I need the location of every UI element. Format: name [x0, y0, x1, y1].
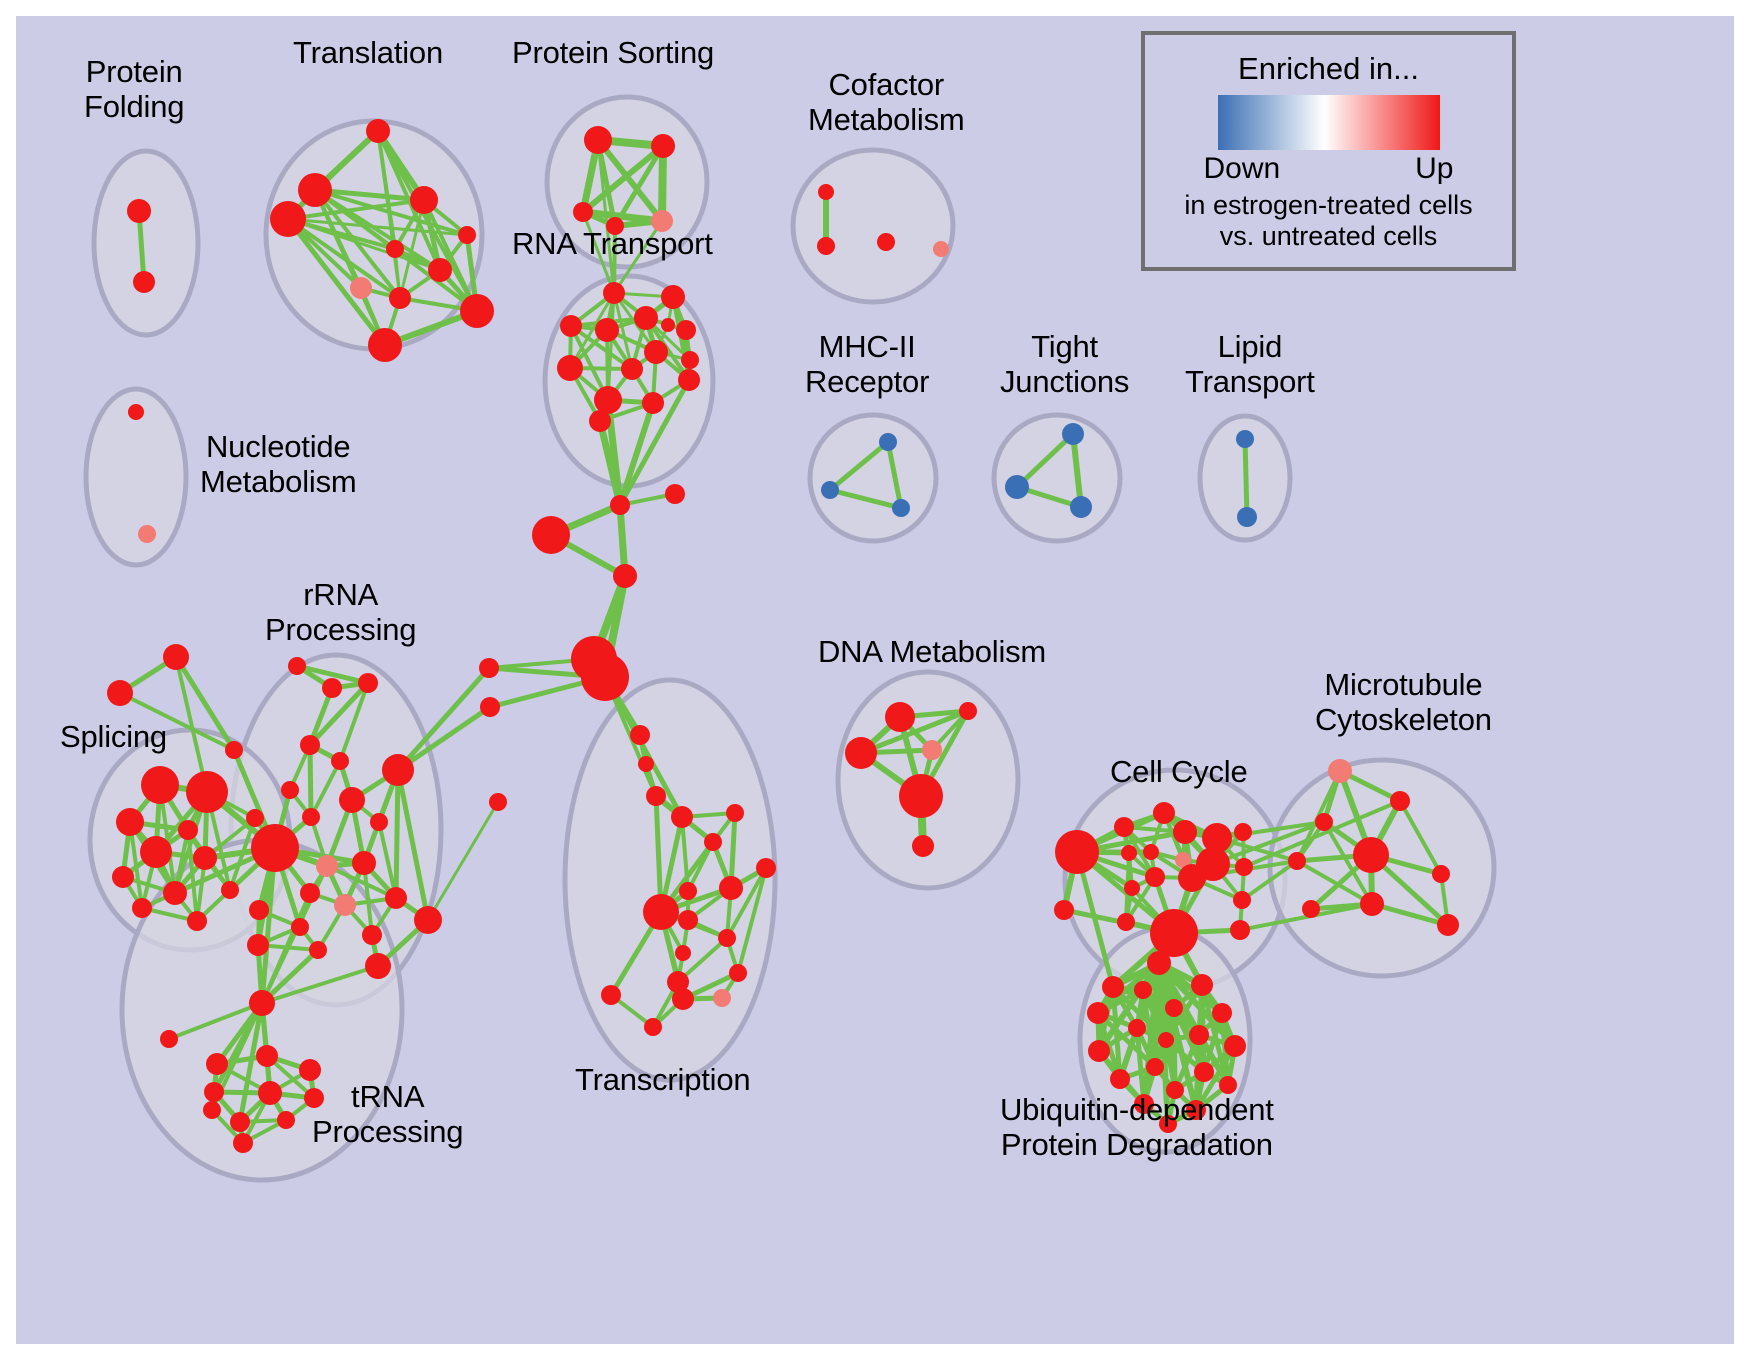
- cluster-label-mhc-ii-receptor: MHC-II Receptor: [805, 330, 929, 399]
- network-node[interactable]: [601, 985, 621, 1005]
- network-edge: [1245, 439, 1247, 517]
- network-node[interactable]: [133, 271, 155, 293]
- cluster-label-trna-processing: tRNA Processing: [312, 1080, 463, 1149]
- network-node[interactable]: [1236, 430, 1254, 448]
- network-node[interactable]: [1117, 913, 1135, 931]
- network-node[interactable]: [309, 941, 327, 959]
- network-node[interactable]: [584, 126, 612, 154]
- network-node[interactable]: [756, 858, 776, 878]
- network-node[interactable]: [821, 481, 839, 499]
- network-node[interactable]: [256, 1045, 278, 1067]
- network-node[interactable]: [138, 525, 156, 543]
- network-node[interactable]: [300, 735, 320, 755]
- network-node[interactable]: [1062, 423, 1084, 445]
- network-node[interactable]: [358, 673, 378, 693]
- network-node[interactable]: [678, 369, 700, 391]
- legend-sublabel: in estrogen-treated cells vs. untreated …: [1184, 190, 1472, 253]
- network-node[interactable]: [225, 741, 243, 759]
- network-node[interactable]: [726, 804, 744, 822]
- network-node[interactable]: [679, 882, 697, 900]
- legend-colorbar: [1218, 95, 1440, 150]
- network-node[interactable]: [281, 781, 299, 799]
- cluster-label-tight-junctions: Tight Junctions: [1000, 330, 1129, 399]
- network-node[interactable]: [912, 835, 934, 857]
- network-node[interactable]: [661, 285, 685, 309]
- network-node[interactable]: [719, 876, 743, 900]
- network-node[interactable]: [1390, 791, 1410, 811]
- network-node[interactable]: [1165, 999, 1183, 1017]
- network-node[interactable]: [885, 702, 915, 732]
- network-node[interactable]: [1153, 802, 1175, 824]
- network-node[interactable]: [1158, 1032, 1174, 1048]
- network-node[interactable]: [643, 894, 679, 930]
- network-node[interactable]: [480, 697, 500, 717]
- cluster-hull-protein-folding: [94, 151, 198, 335]
- cluster-label-cell-cycle: Cell Cycle: [1110, 755, 1248, 790]
- cluster-label-lipid-transport: Lipid Transport: [1185, 330, 1315, 399]
- network-node[interactable]: [116, 808, 144, 836]
- network-node[interactable]: [718, 929, 736, 947]
- network-node[interactable]: [675, 945, 691, 961]
- network-node[interactable]: [1147, 951, 1171, 975]
- network-node[interactable]: [1360, 892, 1384, 916]
- network-node[interactable]: [1070, 496, 1092, 518]
- network-node[interactable]: [160, 1030, 178, 1048]
- network-node[interactable]: [634, 306, 658, 330]
- network-node[interactable]: [339, 787, 365, 813]
- network-node[interactable]: [1224, 1035, 1246, 1057]
- network-node[interactable]: [1328, 759, 1352, 783]
- network-node[interactable]: [187, 911, 207, 931]
- network-node[interactable]: [127, 199, 151, 223]
- network-node[interactable]: [879, 433, 897, 451]
- cluster-label-nucleotide-metabolism: Nucleotide Metabolism: [200, 430, 357, 499]
- network-node[interactable]: [532, 516, 570, 554]
- cluster-label-cofactor-metabolism: Cofactor Metabolism: [808, 68, 965, 137]
- network-node[interactable]: [350, 277, 372, 299]
- network-node[interactable]: [140, 836, 172, 868]
- network-node[interactable]: [1173, 820, 1197, 844]
- network-node[interactable]: [1437, 914, 1459, 936]
- network-node[interactable]: [246, 809, 264, 827]
- network-edge: [310, 745, 311, 817]
- network-node[interactable]: [933, 241, 949, 257]
- network-node[interactable]: [621, 358, 643, 380]
- legend-title: Enriched in...: [1238, 51, 1419, 87]
- network-node[interactable]: [132, 898, 152, 918]
- network-node[interactable]: [1212, 1003, 1232, 1023]
- network-node[interactable]: [1432, 865, 1450, 883]
- enrichment-map-figure: Protein FoldingTranslationProtein Sortin…: [0, 0, 1750, 1360]
- network-node[interactable]: [603, 282, 625, 304]
- network-node[interactable]: [959, 702, 977, 720]
- network-node[interactable]: [681, 351, 699, 369]
- network-node[interactable]: [1124, 880, 1140, 896]
- network-node[interactable]: [291, 918, 309, 936]
- network-node[interactable]: [644, 1018, 662, 1036]
- network-node[interactable]: [107, 680, 133, 706]
- network-node[interactable]: [1143, 844, 1159, 860]
- network-node[interactable]: [581, 653, 629, 701]
- network-node[interactable]: [557, 355, 583, 381]
- network-node[interactable]: [479, 658, 499, 678]
- network-node[interactable]: [877, 233, 895, 251]
- network-node[interactable]: [665, 484, 685, 504]
- legend-endpoints: Down Up: [1204, 152, 1454, 186]
- network-node[interactable]: [163, 881, 187, 905]
- network-node[interactable]: [1102, 976, 1124, 998]
- cluster-label-dna-metabolism: DNA Metabolism: [818, 635, 1046, 670]
- network-node[interactable]: [489, 793, 507, 811]
- network-node[interactable]: [676, 320, 696, 340]
- network-node[interactable]: [1088, 1040, 1110, 1062]
- network-node[interactable]: [573, 202, 593, 222]
- network-node[interactable]: [1194, 1062, 1214, 1082]
- network-node[interactable]: [230, 1112, 250, 1132]
- network-node[interactable]: [302, 808, 320, 826]
- network-node[interactable]: [300, 883, 320, 903]
- cluster-label-protein-sorting: Protein Sorting: [512, 36, 714, 71]
- network-node[interactable]: [1146, 1058, 1164, 1076]
- network-node[interactable]: [1302, 900, 1320, 918]
- network-node[interactable]: [251, 824, 299, 872]
- network-node[interactable]: [892, 499, 910, 517]
- network-node[interactable]: [1234, 823, 1252, 841]
- network-node[interactable]: [1054, 900, 1074, 920]
- network-node[interactable]: [258, 1081, 282, 1105]
- network-node[interactable]: [385, 887, 407, 909]
- network-node[interactable]: [365, 953, 391, 979]
- network-node[interactable]: [1150, 909, 1198, 957]
- cluster-label-microtubule-cytoskeleton: Microtubule Cytoskeleton: [1315, 668, 1492, 737]
- network-node[interactable]: [352, 851, 376, 875]
- network-node[interactable]: [671, 806, 693, 828]
- network-node[interactable]: [1353, 837, 1389, 873]
- network-node[interactable]: [428, 258, 452, 282]
- network-node[interactable]: [845, 737, 877, 769]
- network-node[interactable]: [922, 740, 942, 760]
- network-node[interactable]: [1315, 813, 1333, 831]
- network-node[interactable]: [186, 771, 228, 813]
- network-node[interactable]: [370, 813, 388, 831]
- network-node[interactable]: [1114, 817, 1134, 837]
- network-node[interactable]: [1055, 830, 1099, 874]
- network-node[interactable]: [1145, 867, 1165, 887]
- network-edge: [396, 770, 398, 898]
- network-node[interactable]: [560, 315, 582, 337]
- network-node[interactable]: [389, 287, 411, 309]
- cluster-hull-cofactor-metabolism: [793, 150, 953, 302]
- cluster-label-rna-transport: RNA Transport: [512, 227, 713, 262]
- network-node[interactable]: [316, 855, 338, 877]
- network-node[interactable]: [204, 1082, 224, 1102]
- cluster-label-splicing: Splicing: [60, 720, 167, 755]
- network-node[interactable]: [817, 237, 835, 255]
- network-node[interactable]: [1110, 1069, 1130, 1089]
- network-node[interactable]: [1288, 852, 1306, 870]
- network-node[interactable]: [458, 226, 476, 244]
- network-node[interactable]: [1233, 891, 1251, 909]
- network-node[interactable]: [141, 766, 179, 804]
- network-node[interactable]: [414, 906, 442, 934]
- network-node[interactable]: [460, 294, 494, 328]
- network-node[interactable]: [112, 866, 134, 888]
- network-node[interactable]: [661, 318, 675, 332]
- network-node[interactable]: [704, 833, 722, 851]
- network-node[interactable]: [1005, 475, 1029, 499]
- cluster-hull-mhc-ii: [810, 415, 936, 541]
- network-node[interactable]: [1121, 845, 1137, 861]
- network-node[interactable]: [1191, 974, 1213, 996]
- network-node[interactable]: [203, 1101, 221, 1119]
- network-node[interactable]: [193, 846, 217, 870]
- network-node[interactable]: [247, 934, 269, 956]
- network-node[interactable]: [382, 754, 414, 786]
- network-node[interactable]: [1237, 507, 1257, 527]
- network-node[interactable]: [249, 990, 275, 1016]
- network-node[interactable]: [594, 386, 622, 414]
- network-node[interactable]: [233, 1133, 253, 1153]
- network-node[interactable]: [630, 725, 650, 745]
- network-node[interactable]: [1178, 864, 1206, 892]
- network-node[interactable]: [163, 644, 189, 670]
- network-node[interactable]: [288, 657, 306, 675]
- network-node[interactable]: [1189, 1025, 1209, 1045]
- network-node[interactable]: [589, 410, 611, 432]
- network-node[interactable]: [299, 1059, 321, 1081]
- network-node[interactable]: [366, 119, 390, 143]
- network-node[interactable]: [334, 894, 356, 916]
- network-node[interactable]: [178, 820, 198, 840]
- network-node[interactable]: [613, 564, 637, 588]
- network-node[interactable]: [362, 925, 382, 945]
- network-node[interactable]: [1128, 1019, 1146, 1037]
- cluster-label-protein-folding: Protein Folding: [84, 55, 184, 124]
- network-node[interactable]: [410, 186, 438, 214]
- network-node[interactable]: [899, 774, 943, 818]
- network-node[interactable]: [1230, 920, 1250, 940]
- network-node[interactable]: [651, 134, 675, 158]
- network-node[interactable]: [206, 1053, 228, 1075]
- network-node[interactable]: [713, 989, 731, 1007]
- network-node[interactable]: [331, 752, 349, 770]
- network-node[interactable]: [1134, 981, 1152, 999]
- network-node[interactable]: [368, 328, 402, 362]
- network-node[interactable]: [729, 964, 747, 982]
- network-node[interactable]: [1235, 858, 1253, 876]
- network-node[interactable]: [386, 240, 404, 258]
- cluster-label-rrna-processing: rRNA Processing: [265, 578, 416, 647]
- network-node[interactable]: [249, 900, 269, 920]
- cluster-label-translation: Translation: [293, 36, 443, 71]
- network-node[interactable]: [221, 881, 239, 899]
- cluster-label-transcription: Transcription: [575, 1063, 750, 1098]
- network-node[interactable]: [644, 340, 668, 364]
- network-node[interactable]: [672, 988, 694, 1010]
- network-node[interactable]: [638, 756, 654, 772]
- network-node[interactable]: [270, 201, 306, 237]
- network-node[interactable]: [595, 318, 619, 342]
- legend-panel: Enriched in... Down Up in estrogen-treat…: [1141, 31, 1516, 271]
- network-node[interactable]: [128, 404, 144, 420]
- network-node[interactable]: [1087, 1002, 1109, 1024]
- network-node[interactable]: [610, 495, 630, 515]
- legend-up-label: Up: [1415, 152, 1453, 186]
- network-node[interactable]: [277, 1111, 295, 1129]
- network-node[interactable]: [642, 392, 664, 414]
- network-node[interactable]: [818, 184, 834, 200]
- network-node[interactable]: [322, 678, 342, 698]
- cluster-label-ubiquitin-protein-degradation: Ubiquitin-dependent Protein Degradation: [1000, 1093, 1274, 1162]
- legend-down-label: Down: [1204, 152, 1281, 186]
- network-node[interactable]: [646, 786, 666, 806]
- network-node[interactable]: [678, 910, 698, 930]
- network-node[interactable]: [298, 173, 332, 207]
